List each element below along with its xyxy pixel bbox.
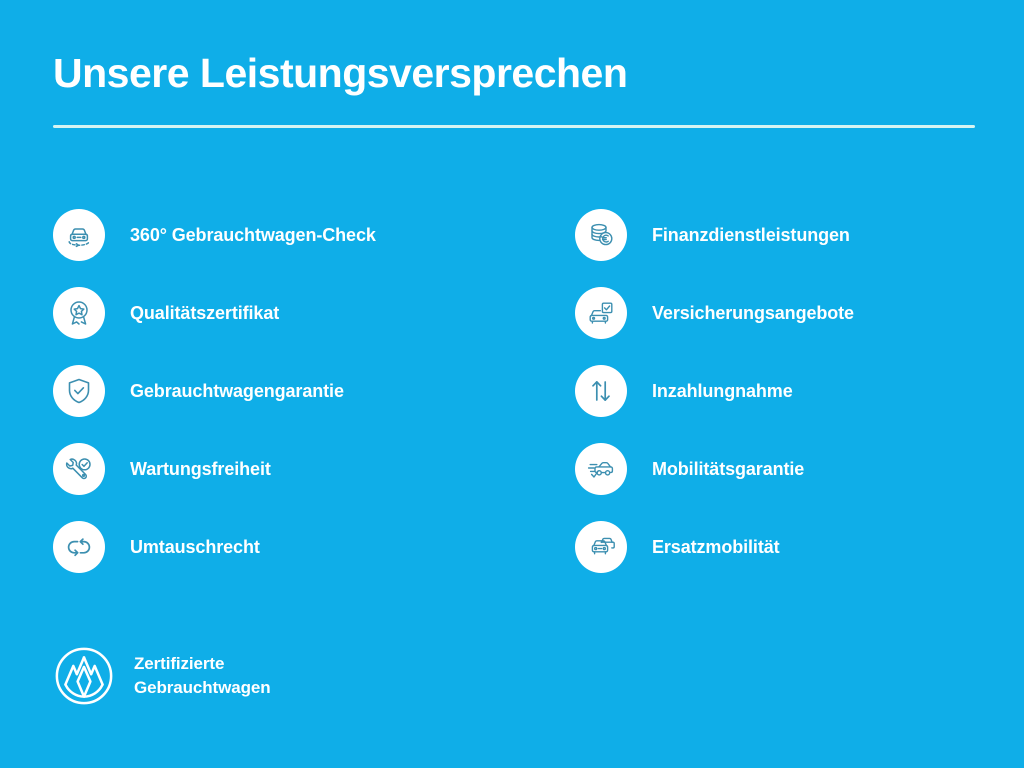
feature-item-finanzdienstleistungen[interactable]: Finanzdienstleistungen [575, 196, 995, 274]
feature-label: Inzahlungnahme [652, 381, 793, 402]
feature-label: Versicherungsangebote [652, 303, 854, 324]
page-title: Unsere Leistungsversprechen [53, 52, 975, 95]
feature-label: Ersatzmobilität [652, 537, 780, 558]
brand-line-1: Zertifizierte [134, 652, 271, 676]
feature-item-gebrauchtwagen-check[interactable]: 360° Gebrauchtwagen-Check [53, 196, 523, 274]
feature-label: Finanzdienstleistungen [652, 225, 850, 246]
brand-text: Zertifizierte Gebrauchtwagen [134, 652, 271, 700]
feature-item-wartungsfreiheit[interactable]: Wartungsfreiheit [53, 430, 523, 508]
wrench-check-icon [53, 443, 105, 495]
feature-item-ersatzmobilitaet[interactable]: Ersatzmobilität [575, 508, 995, 586]
car-360-check-icon [53, 209, 105, 261]
coins-euro-icon [575, 209, 627, 261]
shield-check-icon [53, 365, 105, 417]
feature-label: Wartungsfreiheit [130, 459, 271, 480]
volkswagen-logo-icon [53, 645, 115, 707]
brand-line-2: Gebrauchtwagen [134, 676, 271, 700]
car-motion-check-icon [575, 443, 627, 495]
slide-canvas: Unsere Leistungsversprechen [0, 0, 1024, 768]
title-divider [53, 125, 975, 128]
feature-item-qualitaetszertifikat[interactable]: Qualitätszertifikat [53, 274, 523, 352]
feature-label: Qualitätszertifikat [130, 303, 279, 324]
feature-item-gebrauchtwagengarantie[interactable]: Gebrauchtwagengarantie [53, 352, 523, 430]
feature-column-left: 360° Gebrauchtwagen-Check Qualitätszerti… [53, 196, 523, 586]
features-section: 360° Gebrauchtwagen-Check Qualitätszerti… [0, 196, 1024, 586]
feature-column-right: Finanzdienstleistungen Versicherungsange… [575, 196, 995, 586]
feature-label: 360° Gebrauchtwagen-Check [130, 225, 376, 246]
feature-item-versicherungsangebote[interactable]: Versicherungsangebote [575, 274, 995, 352]
feature-item-inzahlungnahme[interactable]: Inzahlungnahme [575, 352, 995, 430]
feature-label: Mobilitätsgarantie [652, 459, 804, 480]
exchange-arrows-icon [53, 521, 105, 573]
brand-footer: Zertifizierte Gebrauchtwagen [53, 645, 271, 707]
feature-label: Umtauschrecht [130, 537, 260, 558]
feature-item-umtauschrecht[interactable]: Umtauschrecht [53, 508, 523, 586]
up-down-arrows-icon [575, 365, 627, 417]
car-document-check-icon [575, 287, 627, 339]
two-cars-icon [575, 521, 627, 573]
feature-item-mobilitaetsgarantie[interactable]: Mobilitätsgarantie [575, 430, 995, 508]
feature-label: Gebrauchtwagengarantie [130, 381, 344, 402]
award-rosette-icon [53, 287, 105, 339]
header: Unsere Leistungsversprechen [53, 52, 975, 128]
